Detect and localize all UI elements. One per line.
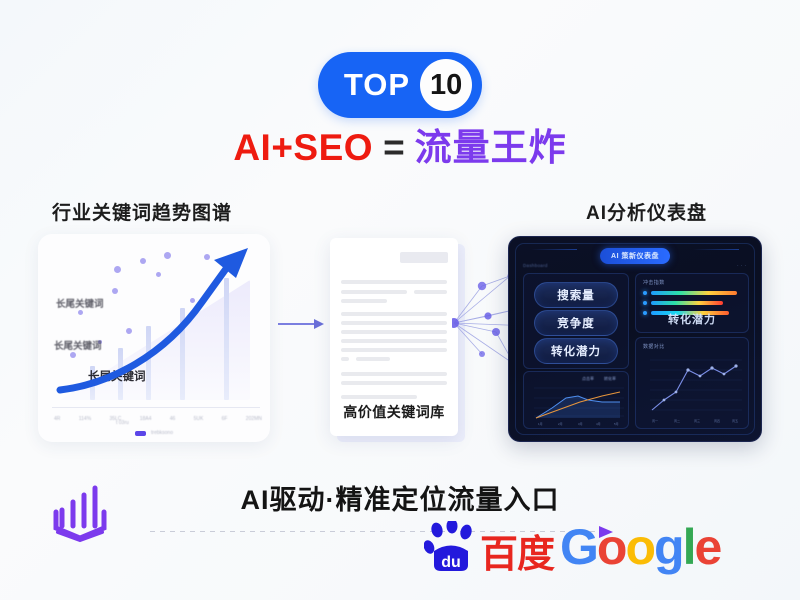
- metric-pill-competition[interactable]: 竞争度: [534, 310, 618, 336]
- document-text-line: [341, 330, 447, 334]
- google-letter-o2: o: [625, 522, 654, 572]
- right-section-caption: AI分析仪表盘: [586, 198, 707, 225]
- trend-x-axis: [52, 407, 260, 408]
- impact-index-panel: 冲击指数 转化潜力: [635, 273, 749, 333]
- baidu-logo: du 百度: [424, 521, 554, 573]
- svg-text:2月: 2月: [558, 422, 563, 426]
- x-tick: 114%: [79, 416, 91, 422]
- search-engine-logos: du 百度 G o o g l e: [424, 521, 720, 573]
- svg-text:3月: 3月: [578, 422, 583, 426]
- badge-top-label: TOP: [344, 69, 410, 102]
- document-text-line: [341, 321, 447, 325]
- metrics-pill-panel: 搜索量 竞争度 转化潜力: [523, 273, 629, 369]
- svg-text:du: du: [441, 554, 461, 571]
- area-chart-svg: 1月2月3月 4月5月: [524, 372, 628, 428]
- headline-ai-seo: AI+SEO: [233, 127, 373, 168]
- google-letter-l: l: [683, 522, 695, 572]
- dashboard-header-badge: AI 策新仪表盘: [600, 248, 670, 264]
- keyword-library-document: 高价值关键词库: [330, 238, 458, 436]
- document-bullet-line: [341, 357, 349, 361]
- keyword-dot: [140, 258, 146, 264]
- dashboard-deco-line: [693, 249, 739, 250]
- headline-traffic: 流量王炸: [415, 127, 567, 168]
- google-letter-e: e: [694, 522, 720, 572]
- x-tick: 46: [170, 416, 176, 422]
- keyword-dot: [156, 272, 161, 277]
- top-badge-wrapper: TOP 10: [0, 52, 800, 118]
- document-text-line: [341, 372, 447, 376]
- svg-text:周三: 周三: [694, 418, 700, 423]
- trend-plot-area: 长尾关键词 长尾关键词 长尾关键词: [52, 244, 260, 400]
- svg-text:1月: 1月: [538, 422, 543, 426]
- headline-equals: =: [383, 127, 405, 168]
- data-comparison-panel: 数据对比 周一周二周三 周四周五: [635, 337, 749, 429]
- top-10-badge: TOP 10: [318, 52, 482, 118]
- trend-bar: [224, 278, 229, 400]
- trend-bar: [180, 308, 185, 400]
- keyword-label: 长尾关键词: [56, 296, 104, 310]
- document-title: 高价值关键词库: [330, 402, 458, 422]
- x-tick: 5UK: [194, 416, 204, 422]
- area-chart-panel: 点击率 转化率 1月2月3月 4月5月: [523, 371, 629, 429]
- keyword-dot: [114, 266, 121, 273]
- conversion-potential-overlay: 转化潜力: [636, 311, 748, 327]
- keyword-dot: [204, 254, 210, 260]
- bottom-tagline: AI驱动·精准定位流量入口: [0, 478, 800, 517]
- keyword-dot: [70, 352, 76, 358]
- keyword-label: 长尾关键词: [88, 368, 146, 384]
- impact-panel-title: 冲击指数: [643, 279, 665, 286]
- baidu-text: 百度: [480, 537, 554, 573]
- document-header-block: [400, 252, 448, 263]
- legend-swatch: [135, 431, 146, 436]
- keyword-dot: [112, 288, 118, 294]
- trend-x-ticks: 4R 114% 35LC 18A4 46 5UK 6F 202MN: [54, 416, 262, 422]
- metric-pill-search-volume[interactable]: 搜索量: [534, 282, 618, 308]
- flow-arrow-icon: [278, 318, 324, 330]
- svg-text:周二: 周二: [674, 418, 680, 423]
- gauge-marker: [643, 301, 647, 305]
- gauge-bar-1: [651, 291, 737, 295]
- document-text-line: [341, 290, 407, 294]
- document-text-line: [341, 299, 387, 303]
- main-headline: AI+SEO=流量王炸: [0, 128, 800, 169]
- svg-text:4月: 4月: [596, 422, 601, 426]
- keyword-trend-card: 长尾关键词 长尾关键词 长尾关键词 4R 114% 35LC 18A4 46 5…: [38, 234, 270, 442]
- document-text-line: [341, 381, 447, 385]
- x-tick: 6F: [222, 416, 228, 422]
- keyword-dot: [78, 310, 83, 315]
- document-text-line: [341, 348, 447, 352]
- trend-x-axis-label: t 03ru: [116, 420, 129, 426]
- keyword-dot: [190, 298, 195, 303]
- google-letter-g2: g: [654, 522, 683, 572]
- legend-label: trebksono: [151, 430, 173, 436]
- trend-bar: [146, 326, 151, 400]
- x-tick: 202MN: [246, 416, 262, 422]
- gauge-bar-2: [651, 301, 723, 305]
- gauge-marker: [643, 291, 647, 295]
- badge-number: 10: [420, 59, 472, 111]
- document-text-line: [341, 339, 447, 343]
- x-tick: 4R: [54, 416, 60, 422]
- svg-text:周一: 周一: [652, 418, 658, 423]
- dashboard-deco-line: [531, 249, 577, 250]
- line-chart-svg: 周一周二周三 周四周五: [636, 338, 748, 428]
- svg-text:5月: 5月: [614, 422, 619, 426]
- trend-legend: trebksono: [38, 430, 270, 436]
- document-text-line: [414, 290, 447, 294]
- x-tick: 18A4: [140, 416, 152, 422]
- svg-text:周五: 周五: [732, 418, 738, 423]
- document-text-line: [356, 357, 390, 361]
- document-text-line: [341, 395, 417, 399]
- document-text-line: [341, 312, 447, 316]
- slide-root: TOP 10 AI+SEO=流量王炸 行业关键词趋势图谱 AI分析仪表盘: [0, 0, 800, 600]
- metric-pill-conversion[interactable]: 转化潜力: [534, 338, 618, 364]
- keyword-dot: [164, 252, 171, 259]
- dashboard-subtitle: Dashboard: [523, 263, 548, 268]
- keyword-dot: [126, 328, 132, 334]
- baidu-paw-icon: du: [424, 521, 478, 573]
- google-letter-o1: o: [597, 522, 626, 572]
- svg-text:周四: 周四: [714, 418, 720, 423]
- document-text-line: [341, 280, 447, 284]
- left-section-caption: 行业关键词趋势图谱: [52, 198, 232, 225]
- ai-dashboard: AI 策新仪表盘 Dashboard ··· 搜索量 竞争度 转化潜力 点击率 …: [508, 236, 762, 442]
- keyword-label: 长尾关键词: [54, 338, 102, 352]
- dashboard-menu-icon[interactable]: ···: [737, 263, 748, 269]
- google-letter-g1: G: [560, 522, 597, 572]
- google-logo: G o o g l e: [560, 522, 720, 572]
